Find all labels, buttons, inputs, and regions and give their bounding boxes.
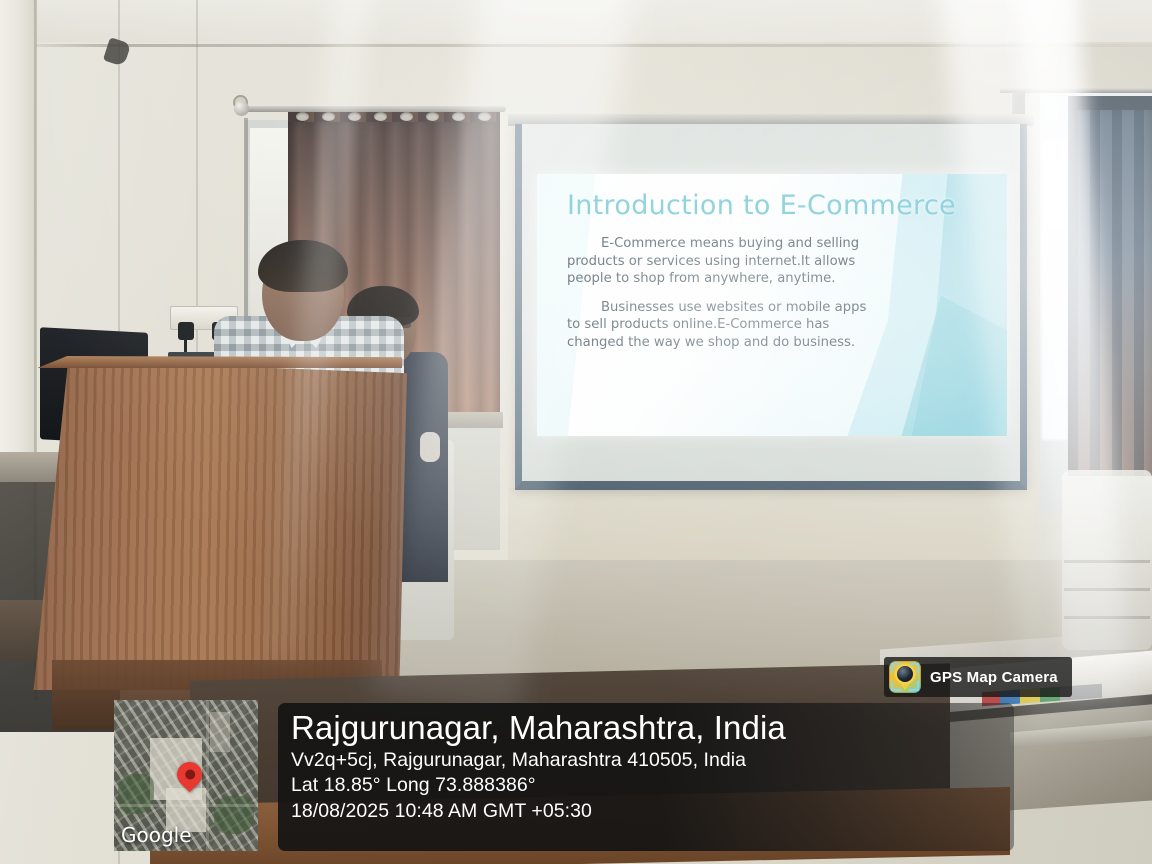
slide-title: Introduction to E-Commerce [567,190,981,221]
gps-city-label: Rajgurunagar, Maharashtra, India [291,709,1014,748]
gps-timestamp-label: 18/08/2025 10:48 AM GMT +05:30 [291,799,1014,824]
projection-screen: Introduction to E-Commerce E-Commerce me… [515,124,1027,490]
map-vegetation-1 [118,774,154,814]
slide-paragraph-1: E-Commerce means buying and selling prod… [567,235,879,288]
curtain-rod-finial [234,101,249,116]
wooden-podium [22,360,407,690]
podium-wood-grain [22,360,407,690]
curtain-right [1068,96,1152,476]
slide-paragraph-2: Businesses use websites or mobile apps t… [567,299,879,352]
window-right-sunlight [1042,140,1068,440]
map-building-3 [210,712,230,752]
map-road-1 [114,804,258,807]
chair-stack-line-1 [1064,560,1150,563]
gps-address-label: Vv2q+5cj, Rajgurunagar, Maharashtra 4105… [291,748,1014,773]
gps-info-panel: Rajgurunagar, Maharashtra, India Vv2q+5c… [278,703,1014,851]
chair-stack-line-2 [1064,588,1150,591]
chair-stack-line-3 [1064,616,1150,619]
person-observer-hand [420,432,440,462]
curtain-rod-left [238,106,506,112]
gps-coordinates-label: Lat 18.85° Long 73.888386° [291,773,1014,798]
map-google-watermark: Google [121,823,192,847]
map-vegetation-2 [214,796,254,834]
map-thumbnail[interactable]: Google [114,700,258,851]
presentation-slide: Introduction to E-Commerce E-Commerce me… [537,174,1007,436]
gps-badge-label: GPS Map Camera [930,669,1058,686]
ceiling-moulding [0,44,1152,47]
screenshot-root: Introduction to E-Commerce E-Commerce me… [0,0,1152,864]
ceiling-band [0,0,1152,42]
gps-map-camera-badge: GPS Map Camera [884,657,1072,697]
slide-body: E-Commerce means buying and selling prod… [567,235,981,351]
gps-camera-icon [889,661,921,693]
map-road-2 [206,700,209,851]
podium-top-edge [30,356,402,368]
